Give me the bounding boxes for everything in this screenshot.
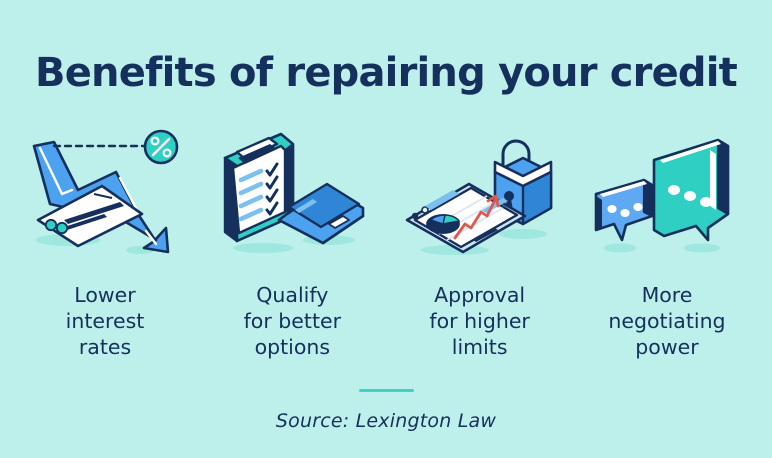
- benefit-label: More negotiating power: [608, 282, 725, 360]
- source-attribution: Source: Lexington Law: [276, 410, 496, 432]
- speech-bubbles-icon: [582, 128, 752, 260]
- tablet-chart-padlock-icon: [395, 128, 565, 260]
- down-arrow-percent-credit-card-icon: [20, 128, 190, 260]
- benefit-item-more-negotiating-power: More negotiating power: [578, 128, 756, 360]
- benefit-item-lower-interest-rates: Lower interest rates: [16, 128, 194, 360]
- benefit-item-approval-higher-limits: Approval for higher limits: [391, 128, 569, 360]
- benefit-label: Approval for higher limits: [429, 282, 529, 360]
- benefit-label: Qualify for better options: [244, 282, 341, 360]
- divider-line: [359, 389, 414, 392]
- page-title: Benefits of repairing your credit: [0, 52, 772, 94]
- checklist-clipboard-credit-card-icon: [207, 128, 377, 260]
- footer-block: Source: Lexington Law: [0, 389, 772, 432]
- benefit-item-qualify-better-options: Qualify for better options: [203, 128, 381, 360]
- benefit-label: Lower interest rates: [66, 282, 145, 360]
- infographic-canvas: Benefits of repairing your credit: [0, 0, 772, 458]
- benefits-row: Lower interest rates: [0, 128, 772, 360]
